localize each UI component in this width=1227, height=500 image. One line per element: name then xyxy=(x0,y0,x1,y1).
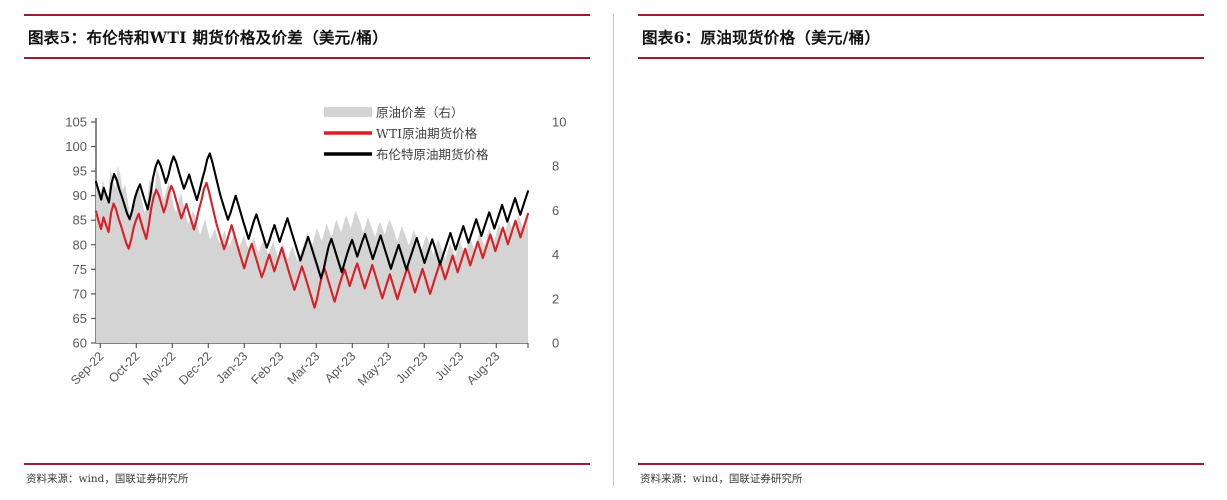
header-rule-bottom xyxy=(638,57,1204,59)
y-tick-label: 80 xyxy=(73,237,87,252)
chart5-title: 图表5：布伦特和WTI 期货价格及价差（美元/桶） xyxy=(24,16,590,57)
panel-chart6: 图表6：原油现货价格（美元/桶） 6065707580859095100105S… xyxy=(614,0,1227,500)
x-tick-label: May-23 xyxy=(355,349,394,388)
y-tick-label: 100 xyxy=(65,139,87,154)
y-tick-label: 85 xyxy=(73,213,87,228)
x-tick-label: Jan-23 xyxy=(214,349,251,386)
legend-label: 原油价差（右） xyxy=(376,105,464,120)
report-page: 图表5：布伦特和WTI 期货价格及价差（美元/桶） 60657075808590… xyxy=(0,0,1227,500)
x-tick-label: Jul-23 xyxy=(432,349,466,383)
x-tick-label: Apr-23 xyxy=(322,349,358,385)
legend-swatch xyxy=(324,107,372,117)
chart6-title: 图表6：原油现货价格（美元/桶） xyxy=(638,16,1204,57)
legend-label: WTI原油期货价格 xyxy=(376,126,478,141)
legend-item-2: 布伦特原油期货价格 xyxy=(324,147,489,162)
x-tick-label: Dec-22 xyxy=(176,349,214,387)
y-tick-label: 105 xyxy=(65,115,87,130)
y-tick-label: 60 xyxy=(73,336,87,351)
y2-tick-label: 2 xyxy=(552,291,559,306)
panel-chart5: 图表5：布伦特和WTI 期货价格及价差（美元/桶） 60657075808590… xyxy=(0,0,614,500)
x-tick-label: Aug-23 xyxy=(464,349,502,387)
x-tick-label: Mar-23 xyxy=(285,349,323,387)
y-tick-label: 90 xyxy=(73,188,87,203)
x-tick-label: Nov-22 xyxy=(140,349,178,387)
legend-item-1: WTI原油期货价格 xyxy=(324,126,478,141)
chart5-footer: 资料来源：wind，国联证券研究所 xyxy=(24,463,590,486)
x-tick-label: Oct-22 xyxy=(106,349,142,385)
chart6-footer: 资料来源：wind，国联证券研究所 xyxy=(638,463,1204,486)
chart5-canvas: 60657075808590951001050246810Sep-22Oct-2… xyxy=(24,96,590,446)
y2-tick-label: 10 xyxy=(552,115,566,130)
legend-label: 布伦特原油期货价格 xyxy=(376,147,489,162)
y2-tick-label: 4 xyxy=(552,247,559,262)
chart5-header: 图表5：布伦特和WTI 期货价格及价差（美元/桶） xyxy=(24,14,590,59)
y-tick-label: 95 xyxy=(73,164,87,179)
y-tick-label: 75 xyxy=(73,262,87,277)
x-tick-label: Feb-23 xyxy=(249,349,287,387)
y-tick-label: 70 xyxy=(73,286,87,301)
y-tick-label: 65 xyxy=(73,311,87,326)
chart6-source: 资料来源：wind，国联证券研究所 xyxy=(638,465,1204,486)
y2-tick-label: 0 xyxy=(552,336,559,351)
y2-tick-label: 6 xyxy=(552,203,559,218)
chart5-figure: 60657075808590951001050246810Sep-22Oct-2… xyxy=(24,96,590,446)
y2-tick-label: 8 xyxy=(552,159,559,174)
header-rule-bottom xyxy=(24,57,590,59)
x-tick-label: Jun-23 xyxy=(394,349,431,386)
chart5-source: 资料来源：wind，国联证券研究所 xyxy=(24,465,590,486)
x-tick-label: Sep-22 xyxy=(68,349,106,387)
legend-item-0: 原油价差（右） xyxy=(324,105,464,120)
chart6-header: 图表6：原油现货价格（美元/桶） xyxy=(638,14,1204,59)
